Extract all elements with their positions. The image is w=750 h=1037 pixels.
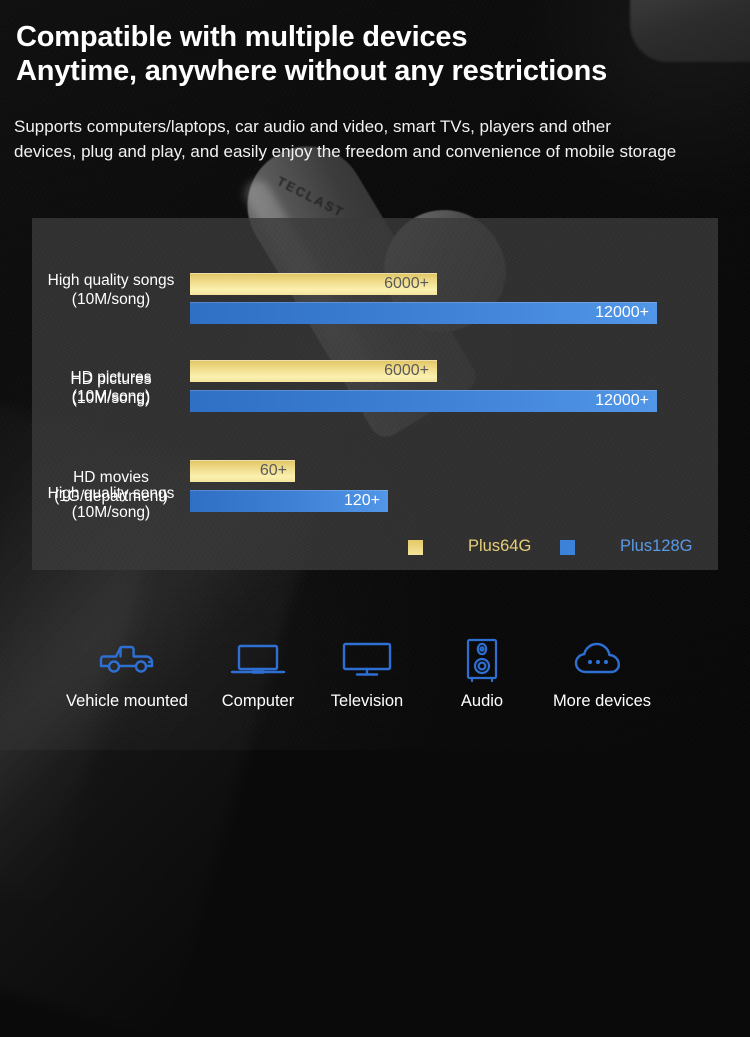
chart-row-label-0-primary: High quality songs: [32, 271, 190, 290]
header: Compatible with multiple devices Anytime…: [16, 20, 742, 88]
chart-row-label-hd-pictures: HD pictures (10M/song): [32, 368, 190, 406]
device-label-vehicle-mounted: Vehicle mounted: [62, 692, 192, 711]
legend-swatch-blue-icon: [560, 540, 575, 555]
device-label-television: Television: [302, 692, 432, 711]
chart-legend-label-plus128g: Plus128G: [620, 537, 692, 556]
chart-row-label-0-secondary: (10M/song): [32, 290, 190, 309]
cloud-icon: [537, 636, 667, 684]
device-label-audio: Audio: [417, 692, 547, 711]
page-subtitle: Supports computers/laptops, car audio an…: [14, 114, 744, 164]
chart-bar-value-plus64g-songs: 6000+: [384, 275, 437, 293]
tv-icon: [302, 636, 432, 684]
legend-swatch-gold-icon: [408, 540, 423, 555]
device-label-more-devices: More devices: [537, 692, 667, 711]
chart-bar-plus64g-songs: 6000+: [190, 273, 437, 295]
chart-bar-plus128g-pictures: 12000+: [190, 390, 657, 412]
chart-bar-plus128g-songs: 12000+: [190, 302, 657, 324]
supported-devices-strip: Vehicle mounted Computer Television: [0, 636, 750, 736]
chart-row-label-1-secondary: (10M/song): [32, 387, 190, 406]
chart-bar-value-plus128g-songs: 12000+: [595, 304, 657, 322]
chart-row-label-high-quality-songs: High quality songs (10M/song): [32, 271, 190, 309]
chart-bar-value-plus64g-pictures: 6000+: [384, 362, 437, 380]
chart-bar-value-plus128g-movies: 120+: [344, 492, 388, 510]
chart-bar-plus64g-movies: 60+: [190, 460, 295, 482]
chart-bar-plus128g-movies: 120+: [190, 490, 388, 512]
car-icon: [62, 636, 192, 684]
chart-legend-label-plus64g: Plus64G: [468, 537, 531, 556]
page-subtitle-line-1: Supports computers/laptops, car audio an…: [14, 114, 744, 139]
page-title-line-2: Anytime, anywhere without any restrictio…: [16, 54, 742, 88]
device-item-more-devices[interactable]: More devices: [537, 636, 667, 711]
chart-bar-plus64g-pictures: 6000+: [190, 360, 437, 382]
chart-legend-item-plus128g[interactable]: [560, 540, 575, 555]
chart-row-label-1-primary: HD pictures: [32, 368, 190, 387]
page-title-line-1: Compatible with multiple devices: [16, 20, 742, 54]
device-item-television[interactable]: Television: [302, 636, 432, 711]
device-item-audio[interactable]: Audio: [417, 636, 547, 711]
chart-bar-value-plus128g-pictures: 12000+: [595, 392, 657, 410]
chart-row-label-2-primary: HD movies: [26, 468, 196, 487]
chart-row-label-hd-movies: HD movies (1G/department): [26, 468, 196, 506]
speaker-icon: [417, 636, 547, 684]
chart-row-label-2-secondary: (1G/department): [26, 487, 196, 506]
chart-bar-value-plus64g-movies: 60+: [260, 462, 295, 480]
page-subtitle-line-2: devices, plug and play, and easily enjoy…: [14, 139, 744, 164]
chart-legend-item-plus64g[interactable]: [408, 540, 423, 555]
device-item-vehicle-mounted[interactable]: Vehicle mounted: [62, 636, 192, 711]
usb-brand-text: TECLAST: [274, 173, 347, 220]
